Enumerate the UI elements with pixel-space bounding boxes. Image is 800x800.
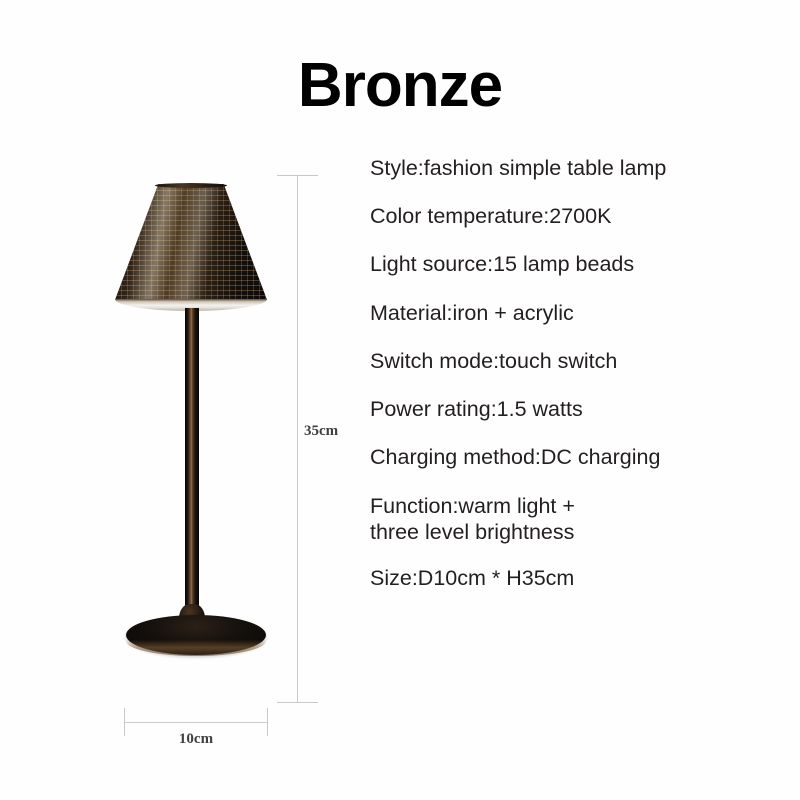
height-dimension-line bbox=[297, 175, 298, 703]
lamp-base-rim-highlight bbox=[126, 626, 266, 656]
width-dimension-label: 10cm bbox=[0, 731, 392, 748]
spec-charging-method: Charging method:DC charging bbox=[370, 444, 780, 470]
spec-material: Material:iron + acrylic bbox=[370, 300, 780, 326]
spec-function: Function:warm light + three level bright… bbox=[370, 493, 780, 545]
page-title: Bronze bbox=[0, 55, 800, 117]
width-dimension-line bbox=[124, 722, 268, 723]
lamp-shade bbox=[115, 184, 267, 306]
product-spec-image: Bronze 35cm 10cm Style:fashion simple ta… bbox=[0, 0, 800, 800]
product-photo bbox=[95, 160, 300, 680]
lamp-stem bbox=[185, 308, 199, 633]
spec-style: Style:fashion simple table lamp bbox=[370, 155, 780, 181]
spec-list: Style:fashion simple table lamp Color te… bbox=[370, 155, 780, 613]
height-dimension-label: 35cm bbox=[300, 421, 342, 442]
spec-color-temperature: Color temperature:2700K bbox=[370, 203, 780, 229]
height-dimension-tick-bottom bbox=[277, 702, 318, 703]
spec-power-rating: Power rating:1.5 watts bbox=[370, 396, 780, 422]
spec-size: Size:D10cm * H35cm bbox=[370, 565, 780, 591]
spec-switch-mode: Switch mode:touch switch bbox=[370, 348, 780, 374]
lamp-shade-top-rim bbox=[155, 183, 227, 188]
spec-light-source: Light source:15 lamp beads bbox=[370, 251, 780, 277]
